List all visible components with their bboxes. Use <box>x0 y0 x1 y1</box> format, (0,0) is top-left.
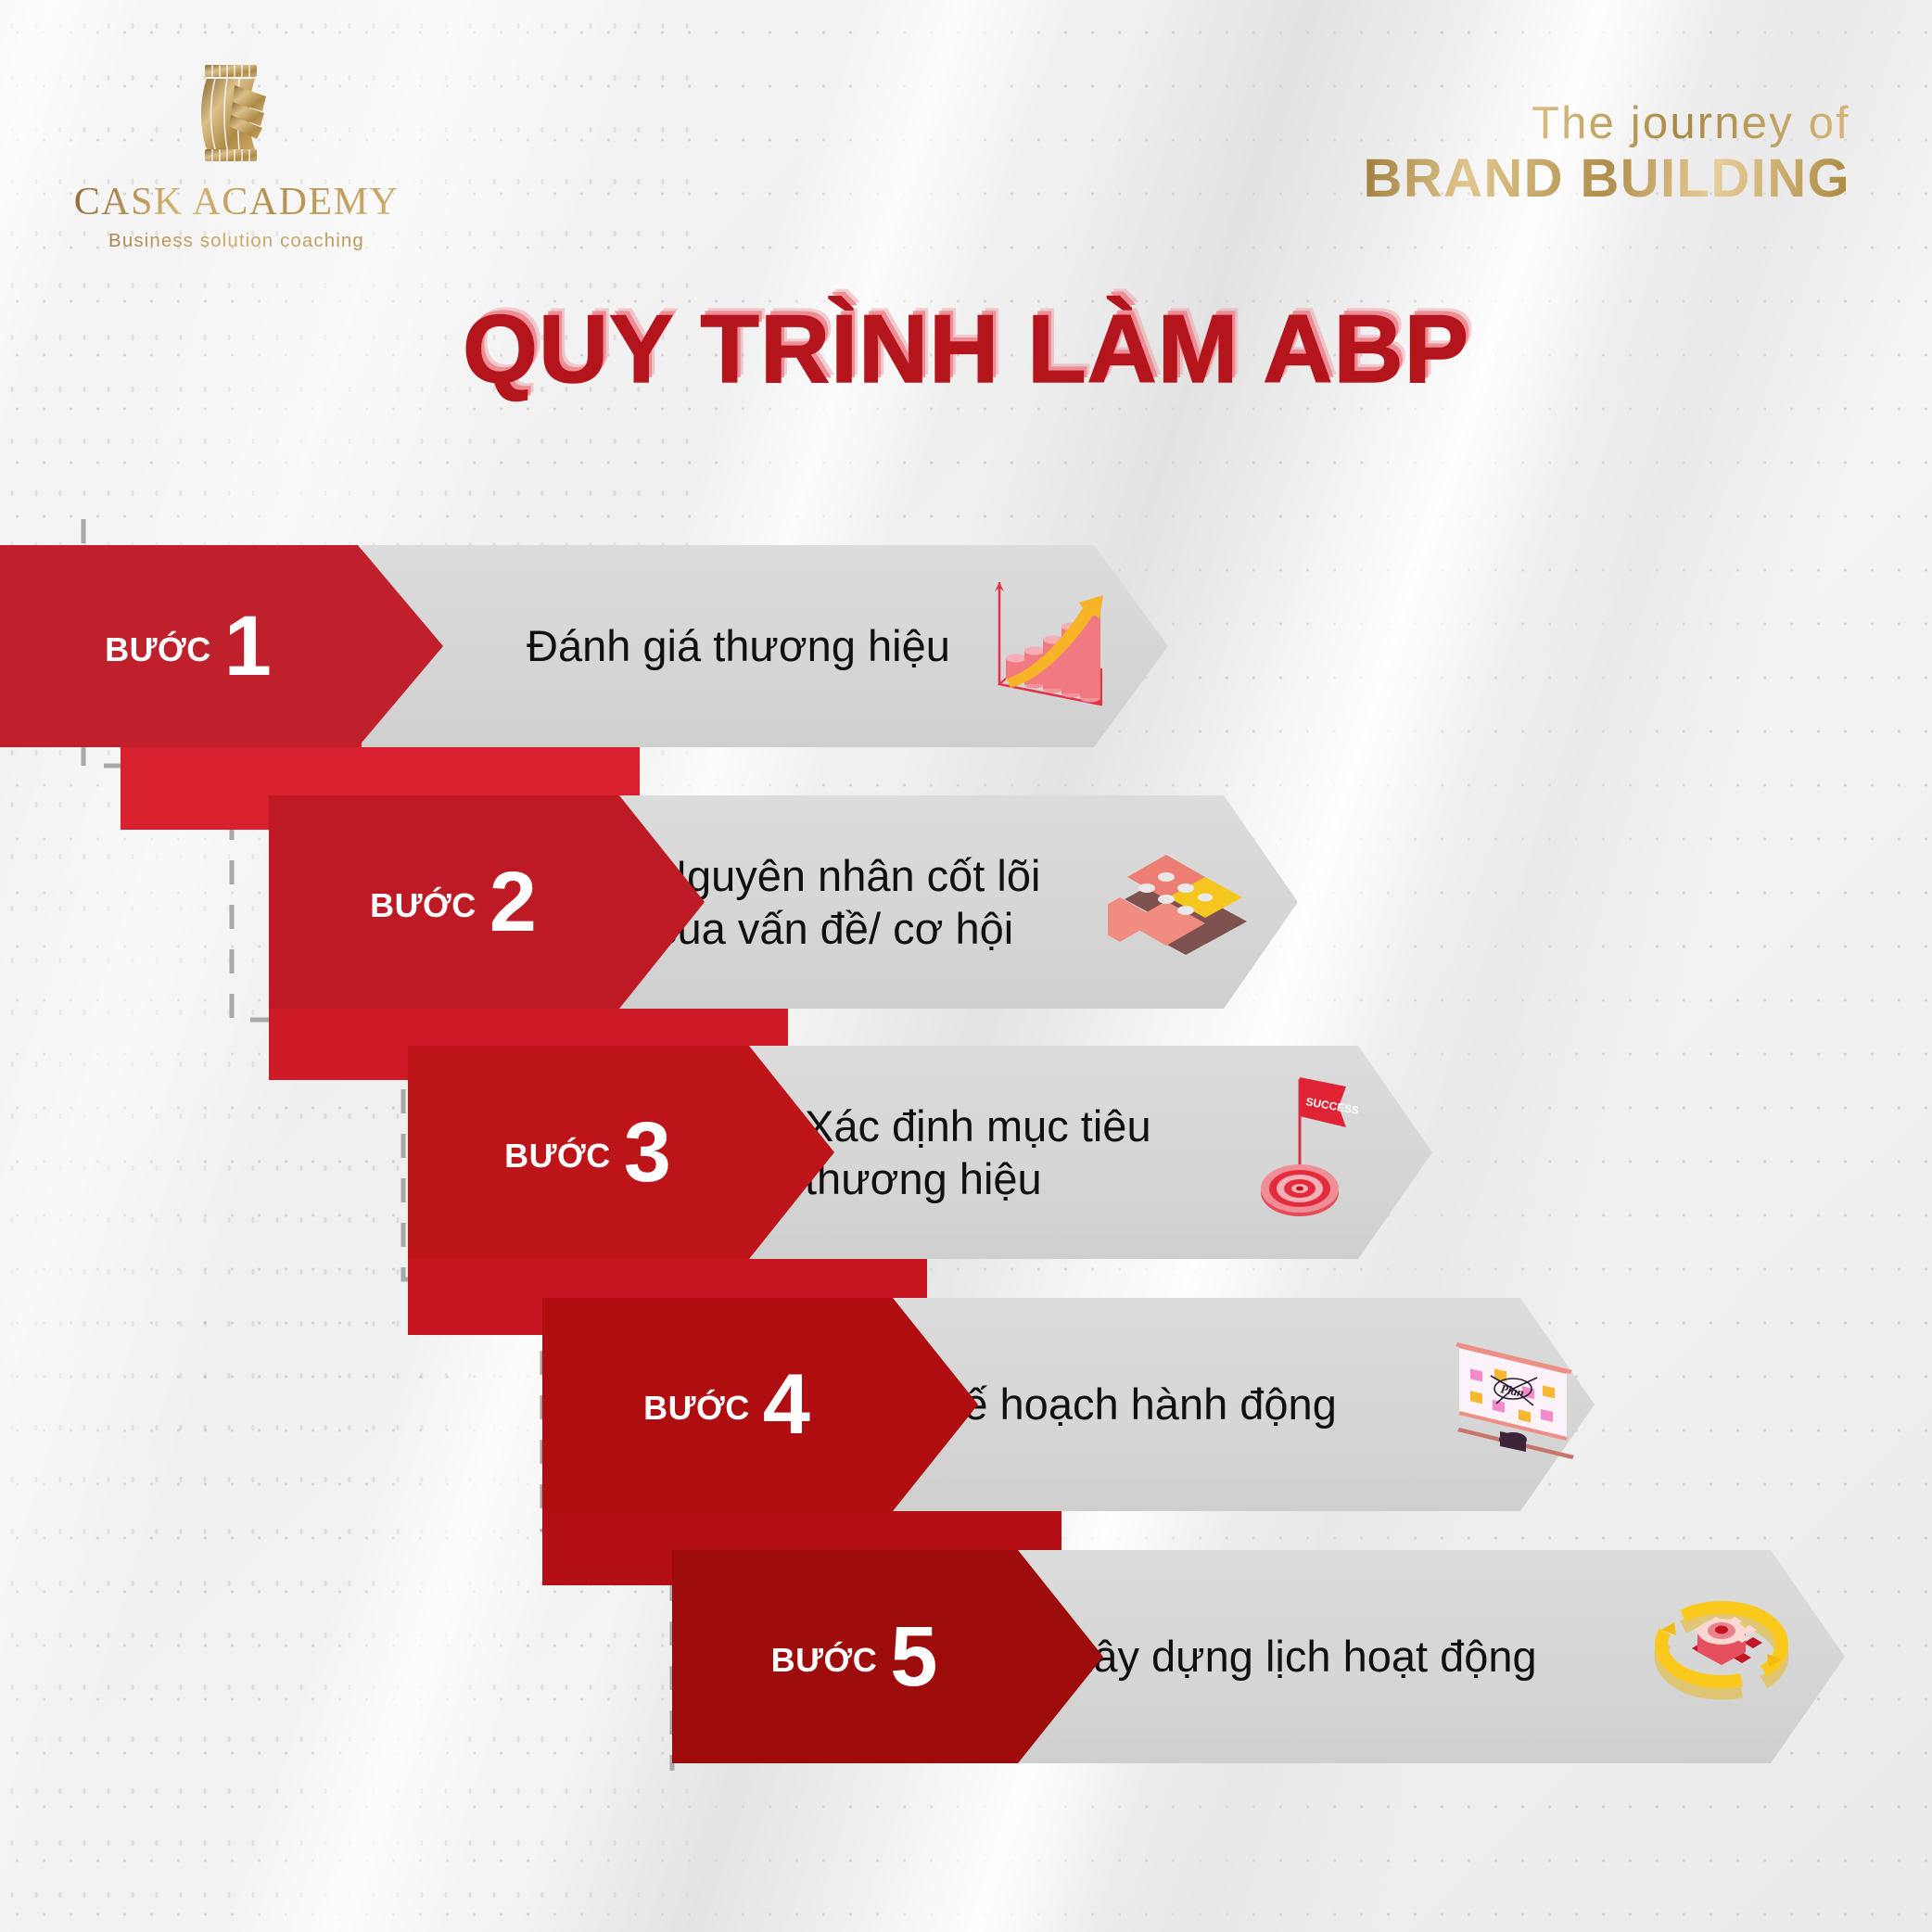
step-badge-label-1: BƯỚC <box>105 630 211 669</box>
step-text-3: Xác định mục tiêu thương hiệu <box>805 1099 1151 1206</box>
target-success-flag-icon: SUCCESS <box>1242 1064 1372 1240</box>
step-badge-3[interactable]: BƯỚC 3 <box>408 1046 834 1259</box>
step-text-4: Kế hoạch hành động <box>934 1378 1337 1430</box>
step-row-1[interactable]: Đánh giá thương hiệu <box>0 545 1168 747</box>
step-badge-label-5: BƯỚC <box>771 1641 878 1680</box>
step-text-5: Xây dựng lịch hoạt động <box>1064 1630 1537 1683</box>
step-number-1: 1 <box>224 608 272 685</box>
step-badge-5[interactable]: BƯỚC 5 <box>672 1550 1103 1763</box>
step-row-4[interactable]: Kế hoạch hành động Plan <box>0 1298 1595 1511</box>
step-badge-2[interactable]: BƯỚC 2 <box>269 795 705 1009</box>
step-badge-label-3: BƯỚC <box>504 1137 611 1176</box>
step-number-4: 4 <box>763 1366 810 1443</box>
step-badge-label-4: BƯỚC <box>643 1389 750 1428</box>
step-badge-4[interactable]: BƯỚC 4 <box>542 1298 978 1511</box>
step-row-3[interactable]: Xác định mục tiêu thương hiệu SUCCESS <box>0 1046 1432 1259</box>
step-number-2: 2 <box>489 864 537 941</box>
step-badge-label-2: BƯỚC <box>370 886 477 925</box>
plan-presentation-board-icon: Plan <box>1437 1328 1599 1485</box>
step-text-2: Nguyên nhân cốt lõi của vấn đề/ cơ hội <box>655 849 1040 956</box>
step-number-5: 5 <box>890 1619 937 1696</box>
step-row-5[interactable]: Xây dựng lịch hoạt động <box>0 1550 1845 1763</box>
process-steps: Đánh giá thương hiệu <box>0 0 1932 1932</box>
step-text-1: Đánh giá thương hiệu <box>527 619 950 672</box>
growth-bar-chart-icon <box>983 566 1122 723</box>
gear-cycle-icon <box>1652 1595 1791 1724</box>
step-badge-1[interactable]: BƯỚC 1 <box>0 545 443 747</box>
step-row-2[interactable]: Nguyên nhân cốt lõi của vấn đề/ cơ hội <box>0 795 1298 1009</box>
puzzle-pieces-icon <box>1108 831 1265 979</box>
infographic-canvas: CASK ACADEMY Business solution coaching … <box>0 0 1932 1932</box>
step-number-3: 3 <box>624 1114 671 1191</box>
